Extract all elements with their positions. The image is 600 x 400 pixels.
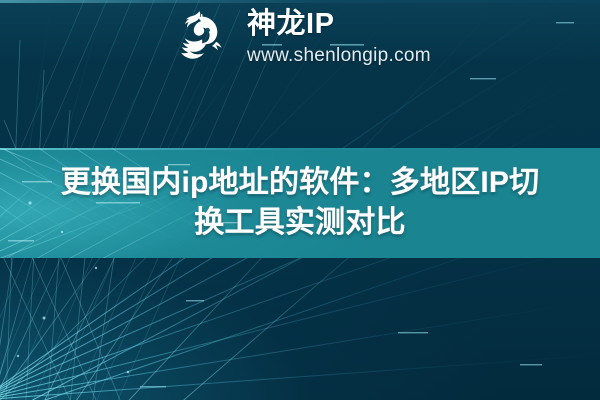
poster-title: 更换国内ip地址的软件：多地区IP切 换工具实测对比: [0, 148, 600, 258]
brand-text: 神龙IP www.shenlongip.com: [247, 10, 431, 65]
brand-url: www.shenlongip.com: [247, 46, 431, 65]
top-edge-highlight: [0, 0, 600, 3]
title-line-2: 换工具实测对比: [194, 203, 405, 243]
brand-logo: 神龙IP www.shenlongip.com: [0, 4, 600, 70]
title-line-1: 更换国内ip地址的软件：多地区IP切: [61, 163, 540, 203]
poster-canvas: 神龙IP www.shenlongip.com: [0, 0, 600, 400]
dragon-head-icon: [169, 8, 233, 66]
title-band: 更换国内ip地址的软件：多地区IP切 换工具实测对比: [0, 148, 600, 258]
brand-name: 神龙IP: [247, 10, 431, 39]
